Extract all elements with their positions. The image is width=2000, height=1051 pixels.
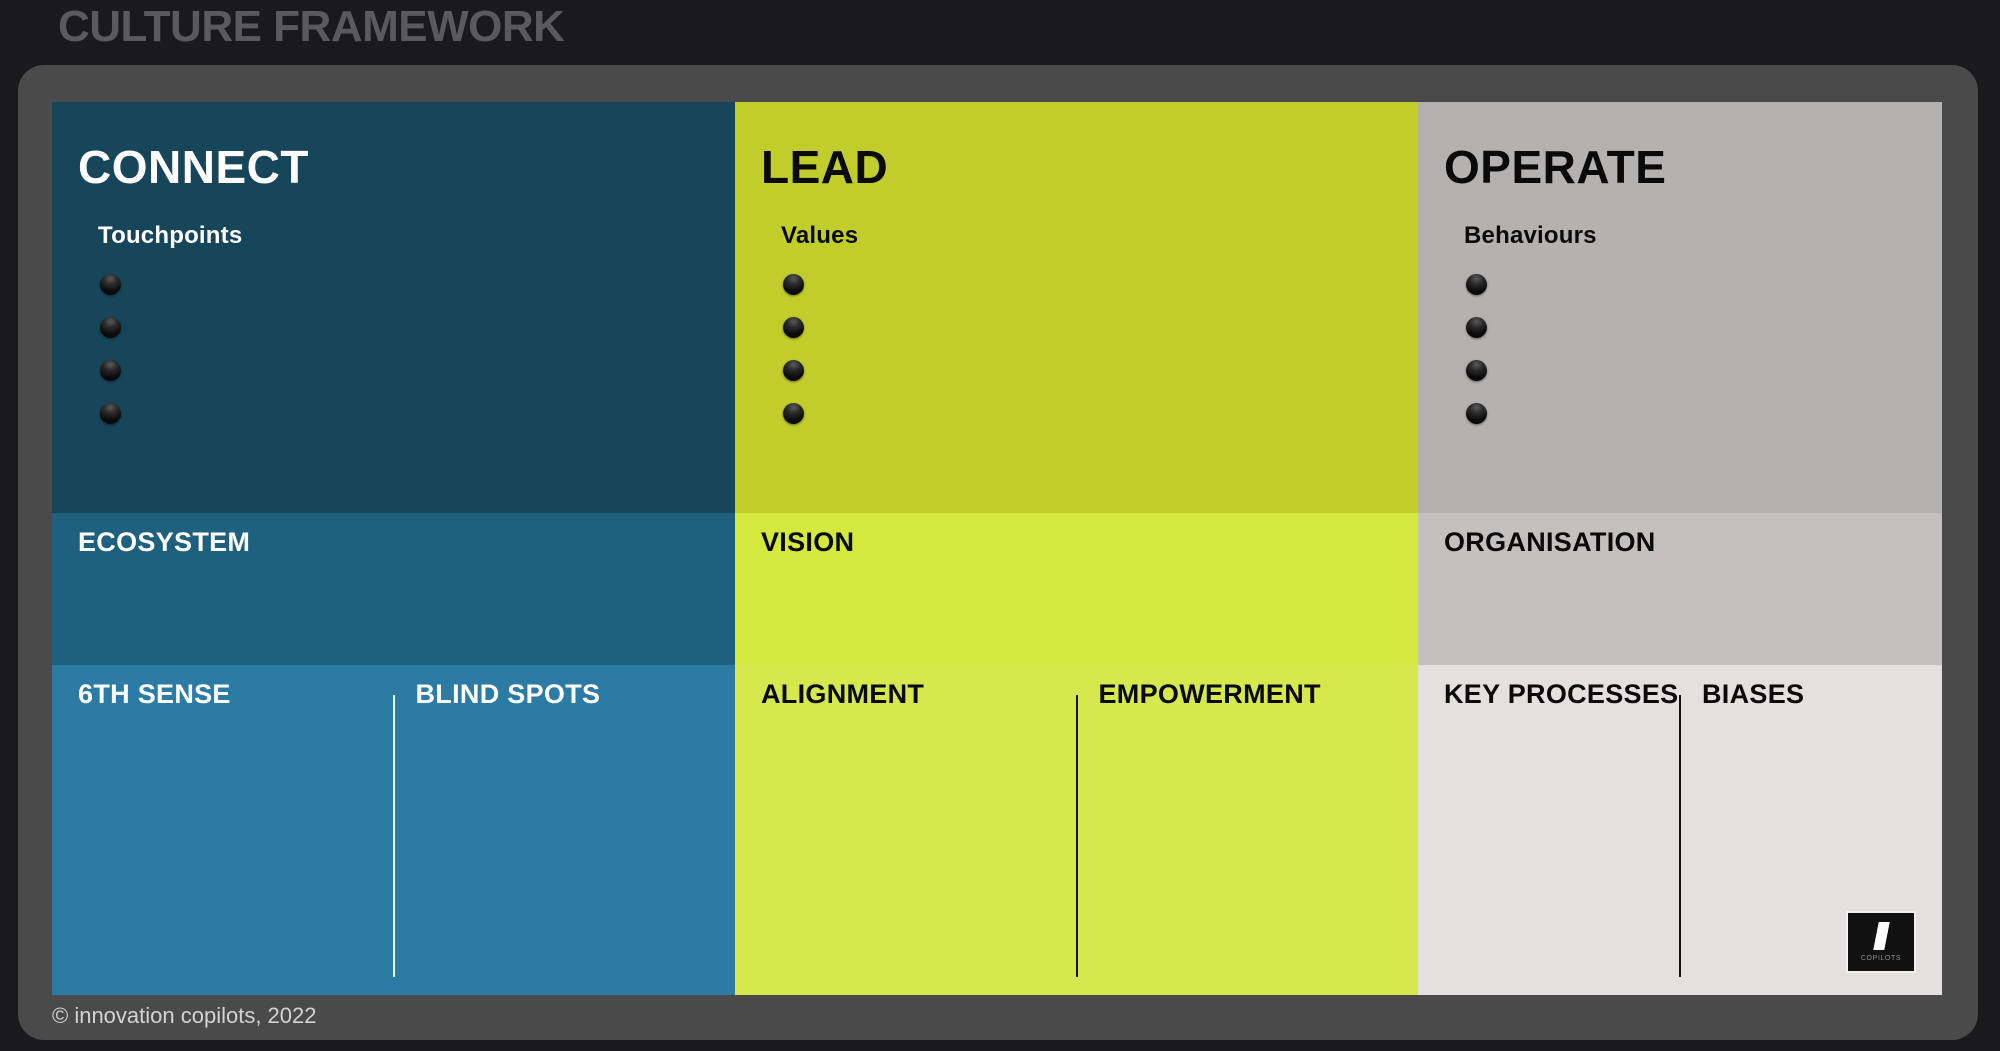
slanted-i-mark-icon — [1873, 922, 1889, 950]
band-vision[interactable]: VISION — [735, 513, 1418, 665]
pillar-subtitle-operate: Behaviours — [1464, 222, 1597, 250]
split-divider — [1076, 695, 1078, 977]
split-divider — [1679, 695, 1681, 977]
copyright-footer: © innovation copilots, 2022 — [52, 1003, 317, 1029]
split-band-operate: KEY PROCESSES BIASES COPILOTS — [1418, 665, 1942, 995]
split-cell-alignment[interactable]: ALIGNMENT — [735, 665, 1077, 995]
split-label-6th-sense: 6TH SENSE — [78, 679, 231, 710]
band-ecosystem[interactable]: ECOSYSTEM — [52, 513, 735, 665]
bullet-list-connect — [100, 274, 121, 424]
pillar-card-lead[interactable]: LEAD Values — [735, 102, 1418, 513]
bullet-point — [100, 360, 121, 381]
split-label-blind-spots: BLIND SPOTS — [416, 679, 601, 710]
split-band-lead: ALIGNMENT EMPOWERMENT — [735, 665, 1418, 995]
culture-framework-grid: CONNECT Touchpoints LEAD Values OPERATE … — [52, 102, 1942, 995]
bullet-point — [100, 317, 121, 338]
split-band-connect: 6TH SENSE BLIND SPOTS — [52, 665, 735, 995]
split-cell-key-processes[interactable]: KEY PROCESSES — [1418, 665, 1680, 995]
band-label-vision: VISION — [761, 527, 854, 558]
split-divider — [393, 695, 395, 977]
bullet-point — [100, 403, 121, 424]
band-organisation[interactable]: ORGANISATION — [1418, 513, 1942, 665]
split-label-alignment: ALIGNMENT — [761, 679, 924, 710]
pillar-title-operate: OPERATE — [1444, 140, 1666, 194]
pillar-subtitle-lead: Values — [781, 222, 858, 250]
bullet-point — [783, 317, 804, 338]
band-label-ecosystem: ECOSYSTEM — [78, 527, 250, 558]
logo-wordmark: COPILOTS — [1861, 955, 1901, 962]
page-title: CULTURE FRAMEWORK — [58, 2, 564, 52]
bullet-point — [783, 274, 804, 295]
bullet-point — [100, 274, 121, 295]
bullet-point — [783, 403, 804, 424]
bullet-point — [1466, 360, 1487, 381]
innovation-copilots-logo: COPILOTS — [1846, 911, 1916, 973]
slide-root: CULTURE FRAMEWORK CONNECT Touchpoints LE… — [0, 0, 2000, 1051]
split-label-empowerment: EMPOWERMENT — [1099, 679, 1321, 710]
band-label-organisation: ORGANISATION — [1444, 527, 1656, 558]
pillar-card-operate[interactable]: OPERATE Behaviours — [1418, 102, 1942, 513]
pillar-title-lead: LEAD — [761, 140, 888, 194]
split-cell-blind-spots[interactable]: BLIND SPOTS — [394, 665, 736, 995]
split-cell-empowerment[interactable]: EMPOWERMENT — [1077, 665, 1419, 995]
pillar-card-connect[interactable]: CONNECT Touchpoints — [52, 102, 735, 513]
bullet-point — [1466, 274, 1487, 295]
bullet-point — [1466, 317, 1487, 338]
bullet-point — [1466, 403, 1487, 424]
split-label-biases: BIASES — [1702, 679, 1804, 710]
bullet-list-operate — [1466, 274, 1487, 424]
bullet-list-lead — [783, 274, 804, 424]
split-cell-6th-sense[interactable]: 6TH SENSE — [52, 665, 394, 995]
bullet-point — [783, 360, 804, 381]
pillar-subtitle-connect: Touchpoints — [98, 222, 242, 250]
pillar-title-connect: CONNECT — [78, 140, 309, 194]
split-label-key-processes: KEY PROCESSES — [1444, 679, 1678, 710]
